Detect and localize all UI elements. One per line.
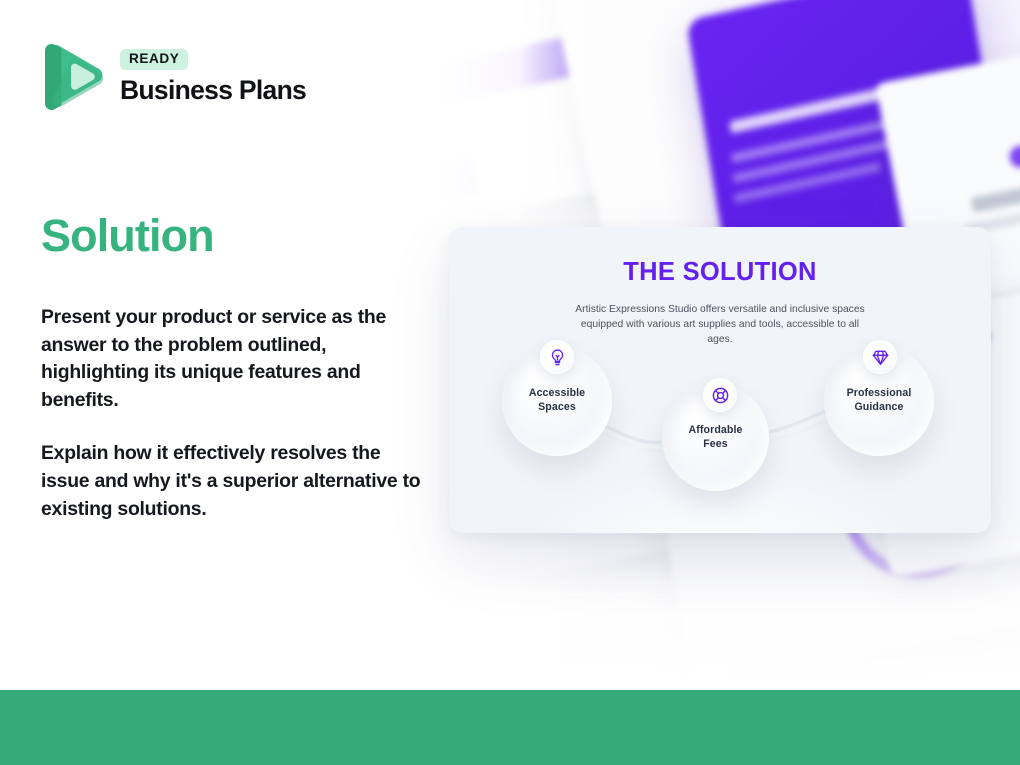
- lifebuoy-icon: [703, 378, 737, 412]
- background-dot: [1008, 144, 1020, 170]
- brand-name: Business Plans: [120, 76, 306, 105]
- solution-preview-card: THE SOLUTION Artistic Expressions Studio…: [449, 227, 991, 533]
- play-triangle-logo-icon: [41, 40, 107, 114]
- brand-text-block: READY Business Plans: [120, 49, 306, 104]
- presentation-slide: THE SOLUTION Artistic Expressions Studio…: [0, 0, 1020, 765]
- body-paragraph-1: Present your product or service as the a…: [41, 304, 433, 414]
- body-copy: Present your product or service as the a…: [41, 304, 433, 523]
- footer-accent-bar: [0, 690, 1020, 765]
- feature-bubble-label: Professional Guidance: [839, 387, 920, 414]
- body-paragraph-2: Explain how it effectively resolves the …: [41, 440, 433, 523]
- diamond-icon: [863, 340, 897, 374]
- brand-logo: READY Business Plans: [41, 40, 306, 114]
- ready-badge: READY: [120, 49, 188, 70]
- page-title: Solution: [41, 213, 214, 258]
- lightbulb-icon: [540, 340, 574, 374]
- feature-bubble-label: Accessible Spaces: [521, 387, 593, 414]
- background-text-bar: [971, 180, 1020, 212]
- feature-bubble-label: Affordable Fees: [681, 424, 751, 451]
